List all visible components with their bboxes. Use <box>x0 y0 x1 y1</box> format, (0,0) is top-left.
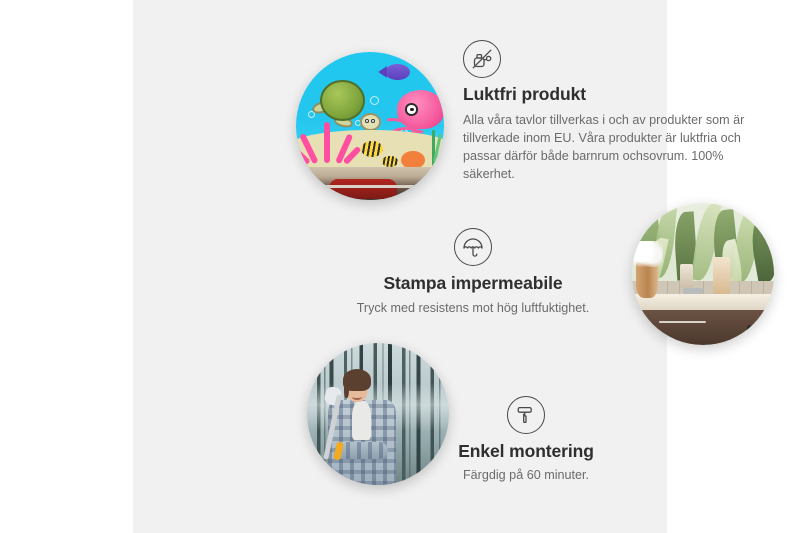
white-flowers <box>632 241 663 267</box>
leaf-wallpaper-background <box>632 203 774 345</box>
feature-title: Enkel montering <box>416 441 636 463</box>
feature-title: Stampa impermeabile <box>338 273 608 295</box>
screenshot-stage: Luktfri produkt Alla våra tavlor tillver… <box>0 0 800 533</box>
coral-illustration <box>303 122 350 163</box>
octopus-head <box>397 90 444 128</box>
paint-roller-icon <box>507 396 545 434</box>
feature-description: Alla våra tavlor tillverkas i och av pro… <box>463 112 763 184</box>
faucet <box>683 288 703 294</box>
room-interior-foreground <box>296 167 444 200</box>
seaweed-illustration <box>432 130 435 166</box>
starfish-illustration <box>401 151 425 169</box>
feature-block-easy-mount: Enkel montering Färgdig på 60 minuter. <box>416 396 636 485</box>
content-panel: Luktfri produkt Alla våra tavlor tillver… <box>133 0 667 533</box>
cabinet-handle <box>747 325 752 343</box>
no-odour-perfume-bottle-icon <box>463 40 501 78</box>
octopus-eye <box>405 103 418 115</box>
wooden-vanity-cabinet <box>638 310 774 346</box>
person-smile <box>352 393 361 400</box>
white-tshirt <box>352 401 370 440</box>
feature-description: Tryck med resistens mot hög luftfuktighe… <box>338 300 608 318</box>
underwater-cartoon-mural-photo <box>296 52 444 200</box>
folded-towel <box>713 257 730 294</box>
feature-description: Färgdig på 60 minuter. <box>416 467 636 485</box>
person-hair <box>343 369 371 391</box>
person-illustration <box>327 371 398 485</box>
sea-water-background <box>296 52 444 200</box>
bathroom-leaf-wallpaper-photo <box>632 203 774 345</box>
umbrella-icon <box>454 228 492 266</box>
soap-dispenser <box>680 264 693 288</box>
turtle-shell <box>320 80 365 122</box>
purple-fish-illustration <box>385 64 410 80</box>
feature-title: Luktfri produkt <box>463 84 763 106</box>
feature-block-waterproof: Stampa impermeabile Tryck med resistens … <box>338 228 608 318</box>
feature-block-odourless: Luktfri produkt Alla våra tavlor tillver… <box>463 40 763 183</box>
